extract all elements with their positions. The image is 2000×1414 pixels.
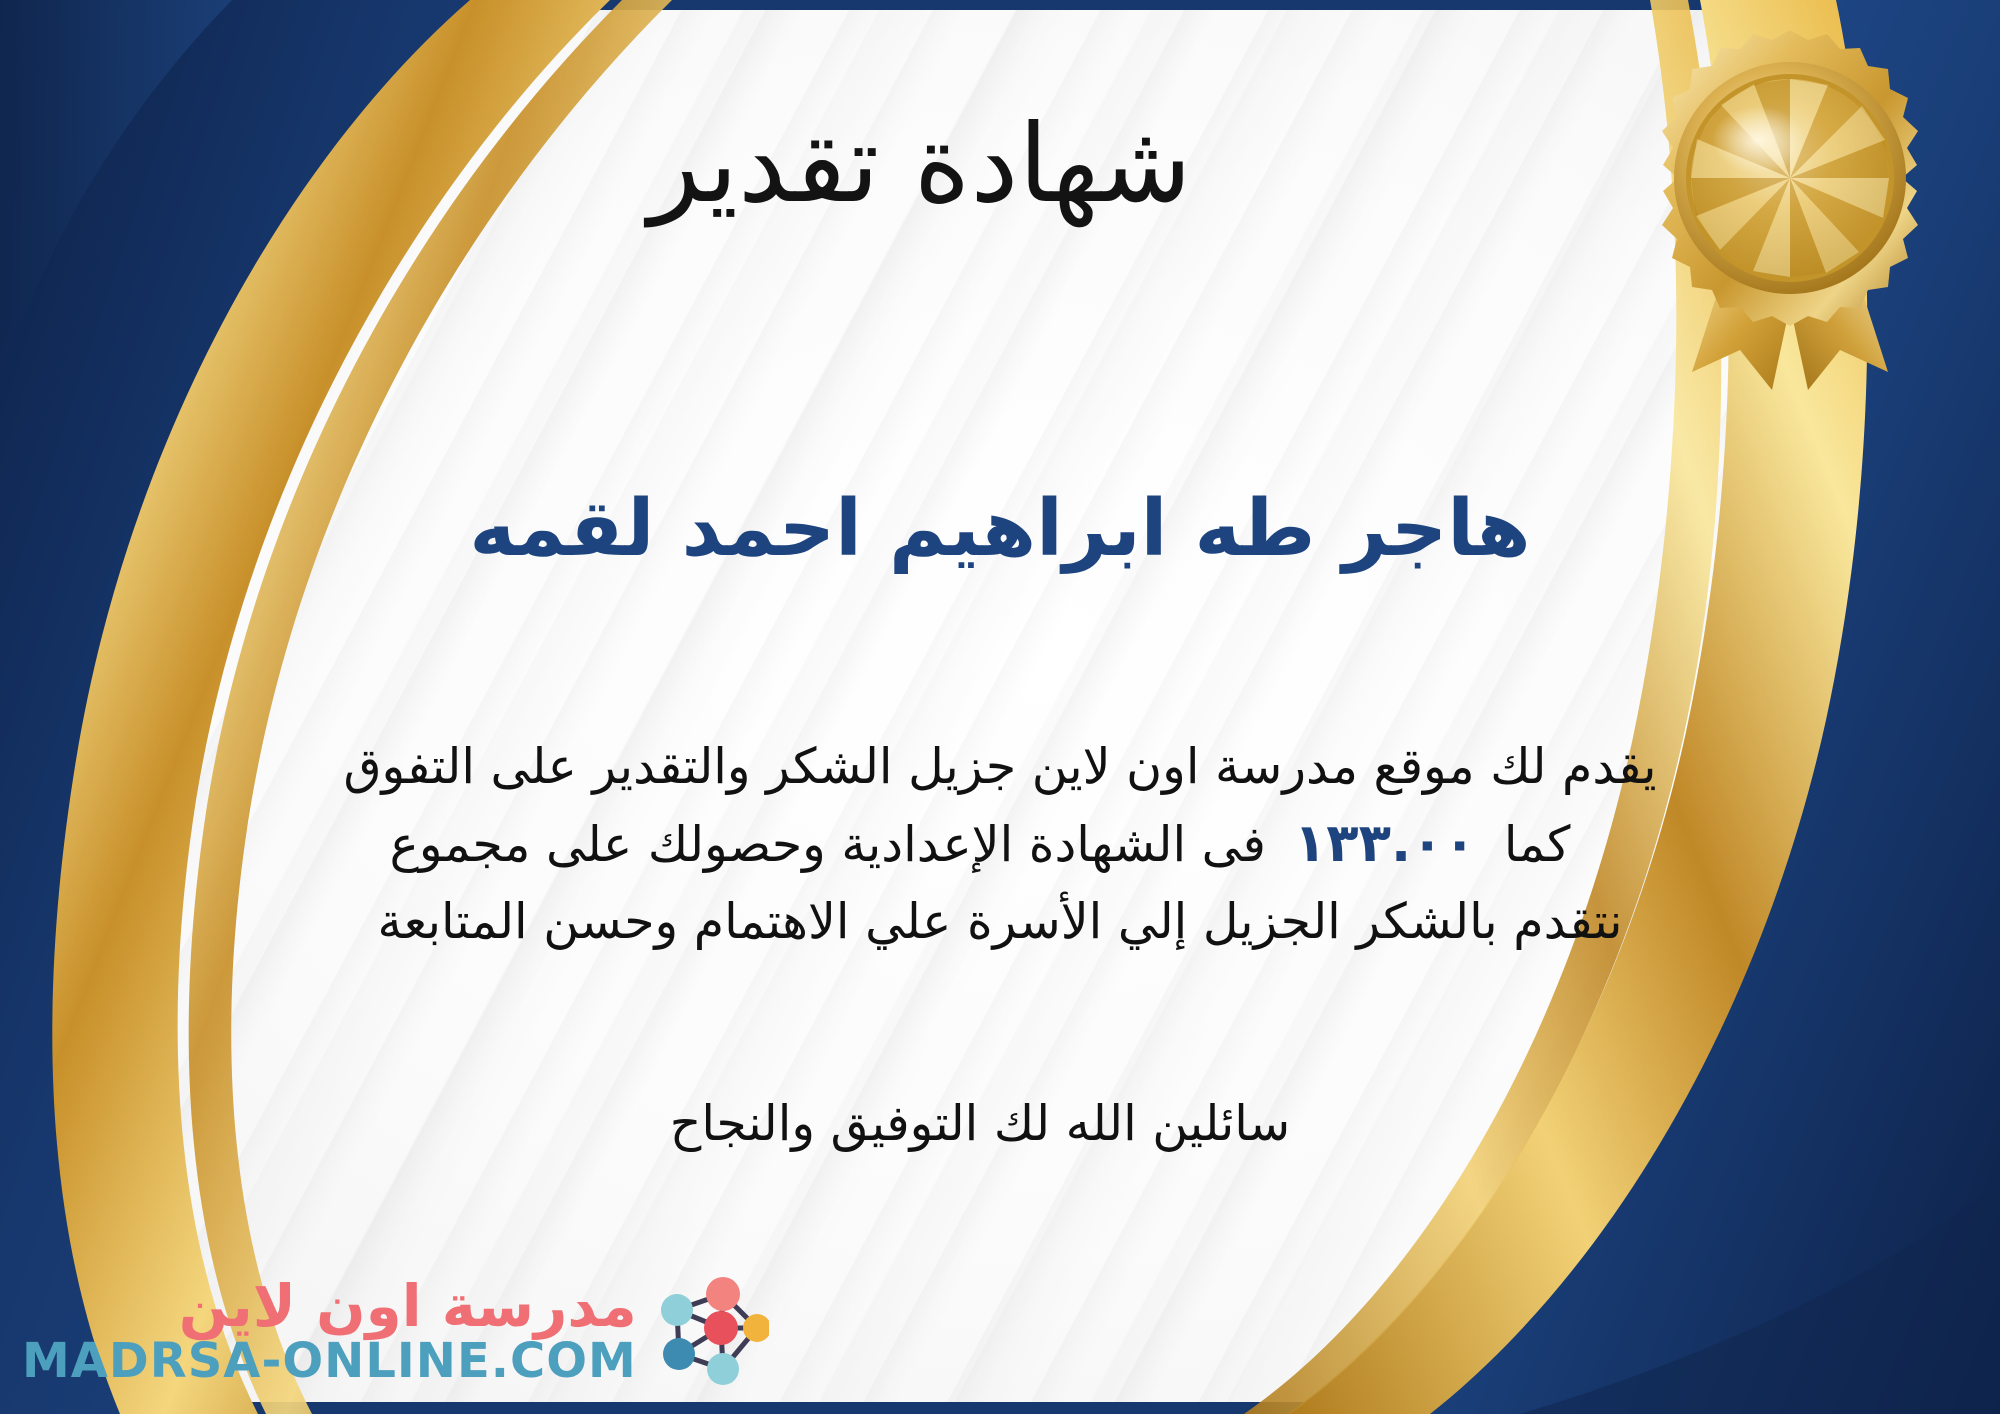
node-light-teal-2 [707, 1353, 739, 1385]
brand-name-arabic: مدرسة اون لاين [179, 1277, 637, 1335]
node-blue [663, 1338, 695, 1370]
node-red [704, 1311, 738, 1345]
certificate-body: يقدم لك موقع مدرسة اون لاين جزيل الشكر و… [60, 730, 1940, 959]
body-line-2-prefix: فى الشهادة الإعدادية وحصولك على مجموع [390, 808, 1266, 882]
node-salmon [706, 1277, 740, 1311]
student-name: هاجر طه ابراهيم احمد لقمه [0, 487, 2000, 573]
body-line-2-suffix: كما [1504, 808, 1611, 882]
brand-logo-text: مدرسة اون لاين MADRSA-ONLINE.COM [22, 1277, 637, 1385]
certificate-content: شهادة تقدير هاجر طه ابراهيم احمد لقمه يق… [0, 0, 2000, 1414]
certificate-title: شهادة تقدير [0, 108, 1840, 221]
network-nodes-icon [643, 1270, 769, 1392]
brand-website-url: MADRSA-ONLINE.COM [22, 1337, 637, 1385]
body-line-1: يقدم لك موقع مدرسة اون لاين جزيل الشكر و… [60, 730, 1940, 804]
body-line-3: نتقدم بالشكر الجزيل إلي الأسرة علي الاهت… [60, 885, 1940, 959]
brand-logo[interactable]: مدرسة اون لاين MADRSA-ONLINE.COM [22, 1270, 769, 1392]
closing-line: سائلين الله لك التوفيق والنجاح [0, 1095, 1960, 1152]
node-light-teal [661, 1294, 693, 1326]
certificate-canvas: شهادة تقدير هاجر طه ابراهيم احمد لقمه يق… [0, 0, 2000, 1414]
grade-total-value: ١٣٣.٠٠ [1266, 804, 1504, 885]
body-line-2: كما ١٣٣.٠٠ فى الشهادة الإعدادية وحصولك ع… [60, 804, 1940, 885]
